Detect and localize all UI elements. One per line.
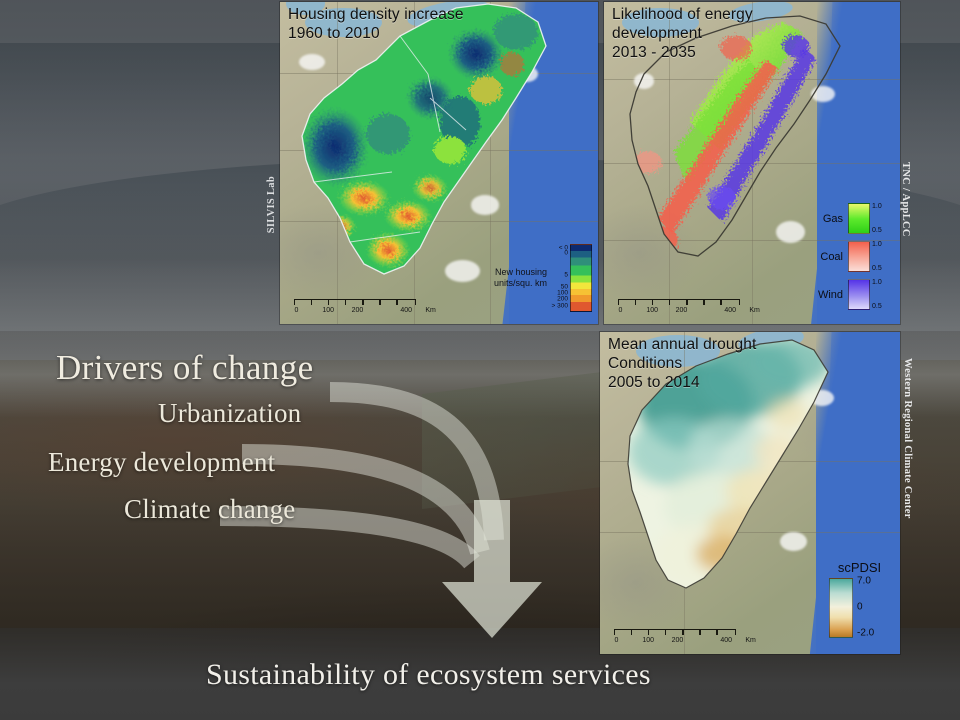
housing-scalebar: 0 100 200 400 Km [294, 299, 416, 316]
housing-legend-colorbar [570, 244, 592, 312]
scalebar-label: 200 [352, 307, 364, 314]
scalebar-label: 400 [724, 307, 736, 314]
bullet-energy-development: Energy development [48, 447, 275, 478]
scpdsi-ticks: 7.0 0 -2.0 [856, 578, 890, 636]
scalebar-label: 200 [676, 307, 688, 314]
legend-tick: 7.0 [857, 576, 871, 587]
energy-legend: Gas 1.0 0.5 Coal 1.0 0.5 Wind 1.0 [803, 203, 892, 310]
legend-tick-low: 0.5 [872, 227, 882, 234]
energy-scalebar: 0 100 200 400 Km [618, 299, 740, 316]
legend-swatch-coal [848, 241, 870, 272]
scalebar-label: 100 [646, 307, 658, 314]
scalebar-label: 100 [642, 637, 654, 644]
scalebar-label: 0 [618, 307, 622, 314]
drought-legend: scPDSI 7.0 0 -2.0 [829, 560, 890, 638]
headline-drivers-of-change: Drivers of change [56, 348, 314, 388]
scalebar-label: 0 [614, 637, 618, 644]
scalebar-ticks [618, 299, 740, 307]
scalebar-label: 0 [294, 307, 298, 314]
tagline-sustainability: Sustainability of ecosystem services [206, 658, 651, 692]
drought-map-title: Mean annual drought Conditions 2005 to 2… [608, 336, 756, 393]
housing-legend-ticks: < 0 0 5 50 100 200 > 300 [550, 245, 570, 311]
scalebar-label: 100 [322, 307, 334, 314]
map-panel-housing-density[interactable]: Housing density increase 1960 to 2010 0 … [280, 2, 598, 324]
map-panel-energy-development[interactable]: Likelihood of energy development 2013 - … [604, 2, 900, 324]
legend-tick: 0 [564, 249, 568, 256]
legend-tick: > 300 [552, 302, 568, 309]
scpdsi-legend-label: scPDSI [829, 560, 890, 575]
bullet-urbanization: Urbanization [158, 398, 301, 429]
legend-ticks-gas: 1.0 0.5 [872, 204, 892, 233]
housing-legend-label: New housing units/squ. km [494, 267, 547, 290]
scalebar-unit: Km [425, 307, 436, 314]
scalebar-unit: Km [749, 307, 760, 314]
legend-swatch-wind [848, 279, 870, 310]
legend-swatch-gas [848, 203, 870, 234]
scalebar-label: 200 [672, 637, 684, 644]
scalebar-ticks [614, 629, 736, 637]
scalebar-ticks [294, 299, 416, 307]
scalebar-label: 400 [400, 307, 412, 314]
energy-legend-row-gas: Gas 1.0 0.5 [803, 203, 892, 234]
map-panel-drought-conditions[interactable]: Mean annual drought Conditions 2005 to 2… [600, 332, 900, 654]
credit-silvis-lab: SILVIS Lab [266, 176, 277, 233]
bullet-climate-change: Climate change [124, 494, 295, 525]
legend-ticks-wind: 1.0 0.5 [872, 280, 892, 309]
presentation-slide: Housing density increase 1960 to 2010 0 … [0, 0, 960, 720]
legend-tick: 0 [857, 602, 863, 613]
scalebar-unit: Km [745, 637, 756, 644]
drought-scalebar: 0 100 200 400 Km [614, 629, 736, 646]
scalebar-labels: 0 100 200 400 Km [618, 307, 740, 316]
legend-tick-high: 1.0 [872, 279, 882, 286]
legend-tick-high: 1.0 [872, 241, 882, 248]
legend-tick-low: 0.5 [872, 303, 882, 310]
scalebar-label: 400 [720, 637, 732, 644]
energy-legend-row-coal: Coal 1.0 0.5 [803, 241, 892, 272]
scpdsi-legend-row: 7.0 0 -2.0 [829, 578, 890, 638]
scpdsi-colorbar [829, 578, 853, 638]
energy-legend-row-wind: Wind 1.0 0.5 [803, 279, 892, 310]
scalebar-labels: 0 100 200 400 Km [294, 307, 416, 316]
housing-map-title: Housing density increase 1960 to 2010 [288, 6, 464, 44]
legend-entry-label: Gas [803, 213, 843, 225]
legend-tick-low: 0.5 [872, 265, 882, 272]
legend-tick-high: 1.0 [872, 203, 882, 210]
credit-western-regional-climate-center: Western Regional Climate Center [902, 358, 913, 519]
scalebar-labels: 0 100 200 400 Km [614, 637, 736, 646]
housing-legend: New housing units/squ. km < 0 0 5 50 100… [494, 244, 592, 312]
credit-tnc-applcc: TNC / AppLCC [900, 162, 911, 237]
legend-ticks-coal: 1.0 0.5 [872, 242, 892, 271]
legend-entry-label: Coal [803, 251, 843, 263]
energy-map-title: Likelihood of energy development 2013 - … [612, 6, 753, 63]
legend-tick: -2.0 [857, 627, 874, 638]
legend-entry-label: Wind [803, 289, 843, 301]
legend-tick: 5 [564, 272, 568, 279]
